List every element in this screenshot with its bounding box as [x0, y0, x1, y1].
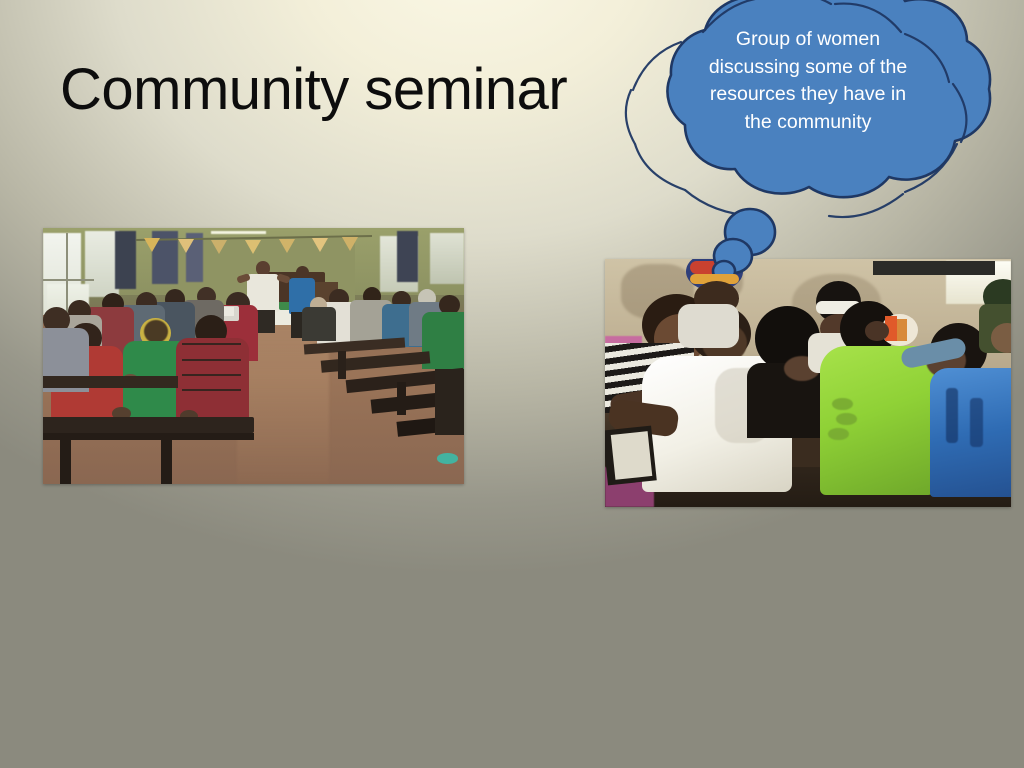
photo-women-discussion: [605, 259, 1011, 507]
thought-bubble-line-4: the community: [667, 109, 949, 137]
thought-bubble-text: Group of women discussing some of the re…: [667, 26, 949, 137]
page-title: Community seminar: [60, 58, 600, 122]
thought-bubble-callout: Group of women discussing some of the re…: [605, 0, 1009, 274]
thought-bubble-line-3: resources they have in: [667, 81, 949, 109]
thought-bubble-line-2: discussing some of the: [667, 54, 949, 82]
presentation-slide: Community seminar: [0, 0, 1024, 768]
photo-women-canvas: [605, 259, 1011, 507]
photo-community-seminar: [43, 228, 464, 484]
thought-bubble-line-1: Group of women: [667, 26, 949, 54]
photo-seminar-canvas: [43, 228, 464, 484]
